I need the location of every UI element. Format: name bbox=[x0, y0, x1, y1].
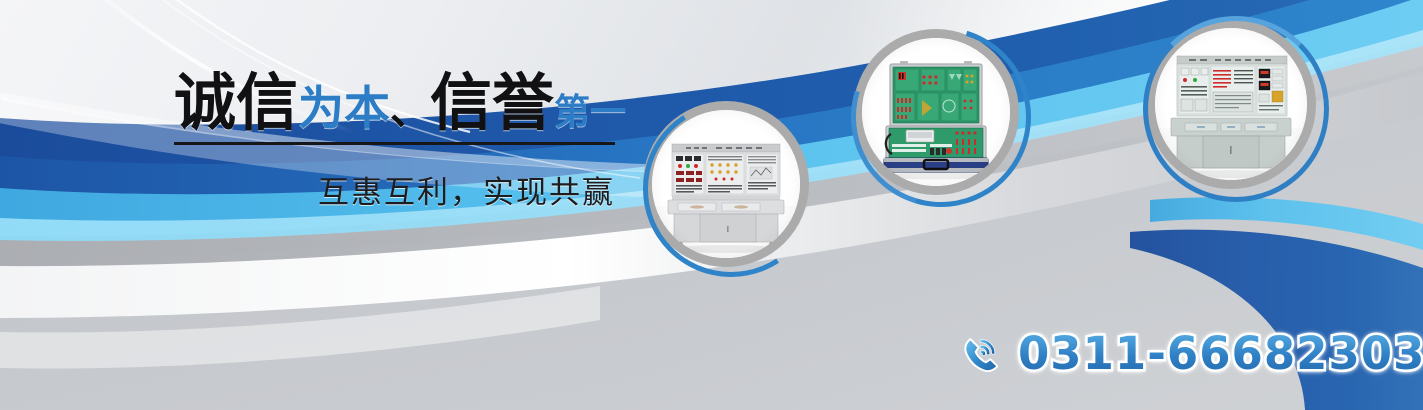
product-circle-2[interactable] bbox=[862, 38, 1010, 186]
headline-part-4: 第一 bbox=[554, 92, 626, 133]
product-circle-3[interactable] bbox=[1155, 28, 1307, 180]
phone-number-wrapper: 0311-66682303 0311-66682303 bbox=[1018, 327, 1423, 380]
promo-banner: 诚信为本、信誉第一 互惠互利，实现共赢 bbox=[0, 0, 1423, 410]
headline-part-2: 为本 bbox=[298, 81, 390, 135]
portable-electronics-training-case-image bbox=[862, 38, 1010, 186]
contact-phone[interactable]: 0311-66682303 0311-66682303 bbox=[958, 327, 1423, 380]
page-title: 诚信为本、信誉第一 bbox=[174, 72, 644, 134]
headline-divider bbox=[174, 142, 615, 145]
electrical-training-workbench-1-image bbox=[652, 110, 800, 258]
product-circle-1[interactable] bbox=[652, 110, 800, 258]
headline-part-1: 诚信 bbox=[174, 66, 298, 139]
phone-icon bbox=[958, 331, 1004, 377]
subtitle: 互惠互利，实现共赢 bbox=[174, 167, 615, 212]
phone-number[interactable]: 0311-66682303 bbox=[1018, 327, 1423, 380]
electrical-training-workbench-2-image bbox=[1155, 28, 1307, 180]
headline-block: 诚信为本、信誉第一 互惠互利，实现共赢 bbox=[174, 72, 644, 212]
headline-punctuation: 、 bbox=[390, 88, 430, 134]
headline-part-3: 信誉 bbox=[430, 66, 554, 139]
